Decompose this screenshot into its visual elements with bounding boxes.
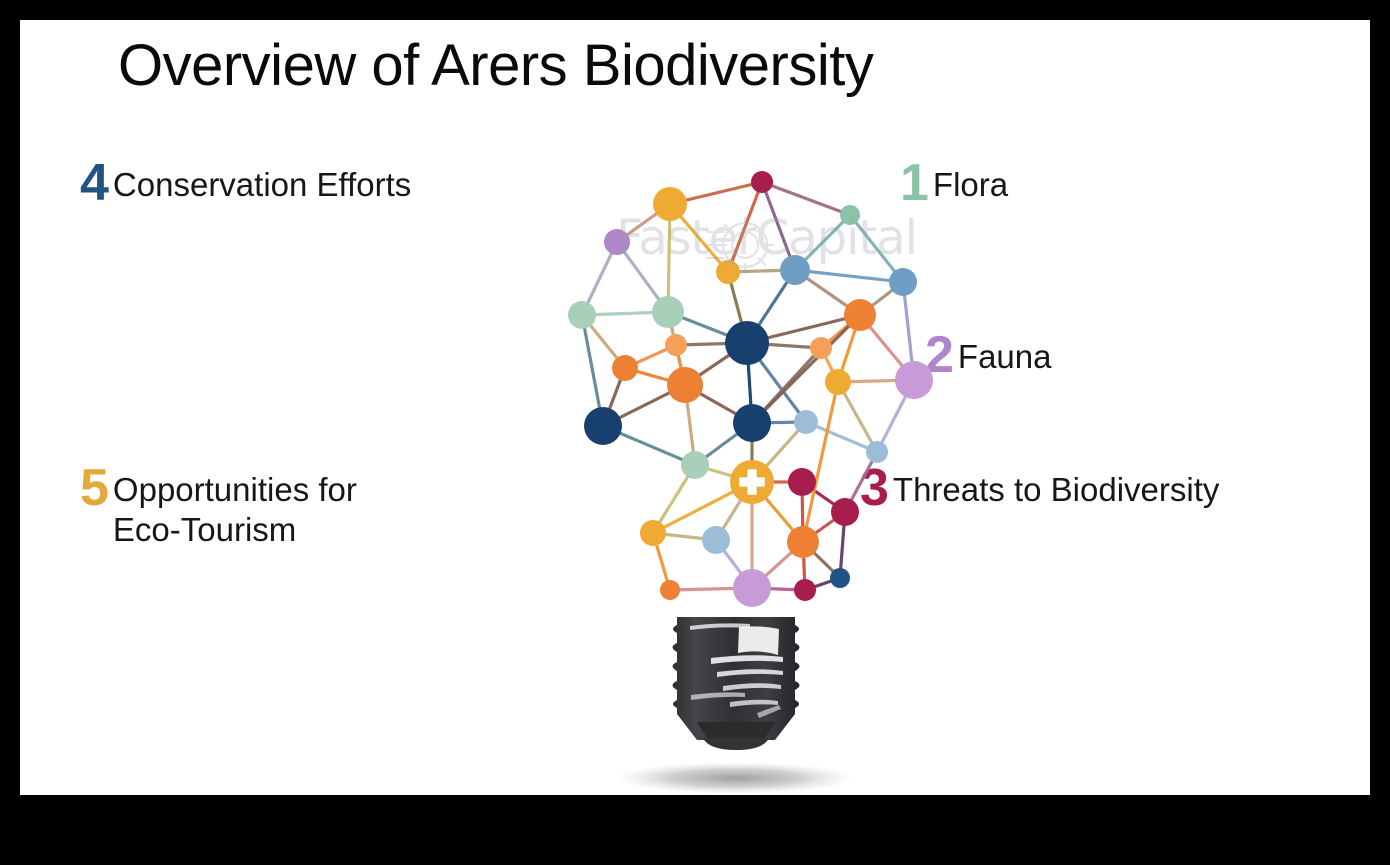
network-node	[568, 301, 596, 329]
callout-opportunities-eco-tourism[interactable]: 5 Opportunities for Eco-Tourism	[80, 465, 357, 551]
callout-label-2: Fauna	[958, 332, 1052, 377]
network-node	[733, 569, 771, 607]
page-title: Overview of Arers Biodiversity	[118, 36, 873, 97]
network-edges	[582, 182, 914, 590]
network-node	[612, 355, 638, 381]
network-node	[681, 451, 709, 479]
network-node	[660, 580, 680, 600]
network-node	[866, 441, 888, 463]
callout-number-4: 4	[80, 160, 109, 208]
network-node	[652, 296, 684, 328]
network-node	[787, 526, 819, 558]
slide-canvas: Overview of Arers Biodiversity 4 Conserv…	[20, 20, 1370, 795]
slide-frame: Overview of Arers Biodiversity 4 Conserv…	[0, 0, 1390, 865]
network-node	[780, 255, 810, 285]
network-node	[716, 260, 740, 284]
callout-label-4: Conservation Efforts	[113, 160, 411, 205]
network-node	[889, 268, 917, 296]
network-node	[751, 171, 773, 193]
network-node	[667, 367, 703, 403]
bulb-svg	[525, 130, 945, 795]
bulb-drop-shadow	[615, 762, 855, 794]
network-node	[825, 369, 851, 395]
network-node	[831, 498, 859, 526]
network-node	[844, 299, 876, 331]
network-node	[788, 468, 816, 496]
lightbulb-network-diagram: FasterCapital	[525, 130, 945, 795]
network-node	[640, 520, 666, 546]
network-node	[665, 334, 687, 356]
network-node	[725, 321, 769, 365]
network-node	[733, 404, 771, 442]
network-node	[702, 526, 730, 554]
callout-number-5: 5	[80, 465, 109, 513]
callout-conservation-efforts[interactable]: 4 Conservation Efforts	[80, 160, 411, 208]
network-edge	[728, 182, 762, 272]
network-node	[810, 337, 832, 359]
callout-label-5: Opportunities for Eco-Tourism	[113, 465, 357, 551]
network-node	[794, 410, 818, 434]
network-node	[604, 229, 630, 255]
network-edge	[762, 182, 850, 215]
network-node	[653, 187, 687, 221]
network-node	[840, 205, 860, 225]
network-node	[584, 407, 622, 445]
network-node	[794, 579, 816, 601]
bulb-screw-base	[673, 617, 800, 750]
network-node	[895, 361, 933, 399]
network-node	[830, 568, 850, 588]
